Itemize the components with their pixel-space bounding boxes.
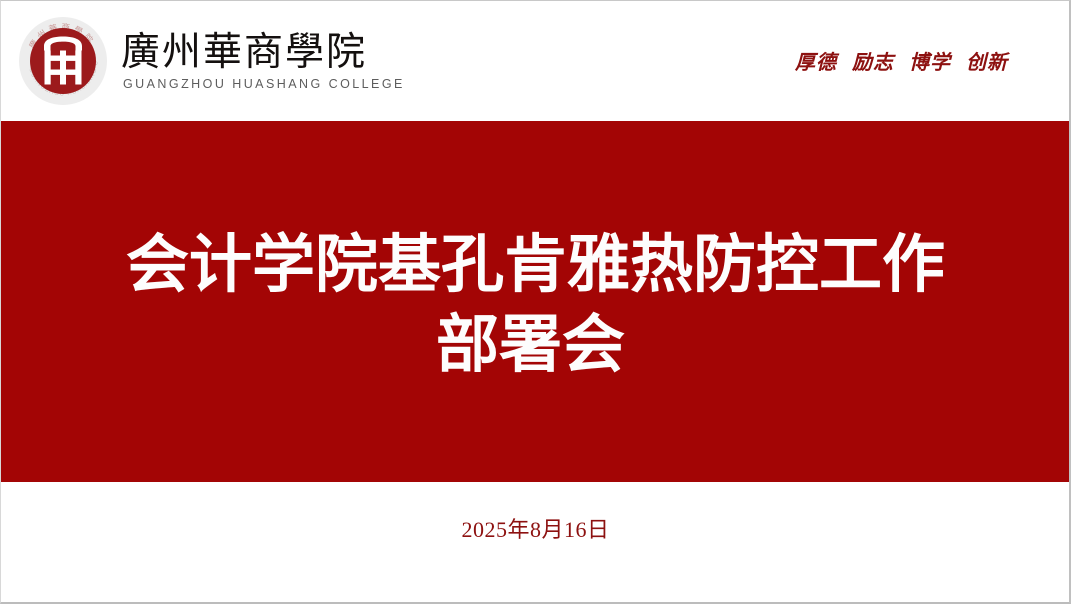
school-logo: 廣州華商學院 GUANGZHOU HUASHANG COLLEGE — [19, 17, 405, 105]
title-banner: 会计学院基孔肯雅热防控工作 部署会 — [1, 121, 1070, 482]
presentation-slide: 廣州華商學院 GUANGZHOU HUASHANG COLLEGE — [0, 0, 1071, 604]
slide-date: 2025年8月16日 — [1, 516, 1070, 544]
title-line-1: 会计学院基孔肯雅热防控工作 — [1, 225, 1070, 305]
motto-word-4: 创新 — [966, 52, 1008, 74]
school-motto: 厚德 励志 博学 创新 — [795, 50, 1008, 76]
school-name-cn: 廣州華商學院 — [121, 30, 405, 76]
seal-hua-glyph-icon — [30, 28, 96, 94]
slide-title: 会计学院基孔肯雅热防控工作 部署会 — [1, 225, 1070, 385]
motto-word-3: 博学 — [909, 52, 951, 74]
title-line-2: 部署会 — [0, 305, 1070, 385]
motto-word-1: 厚德 — [795, 52, 837, 74]
school-name-en: GUANGZHOU HUASHANG COLLEGE — [123, 77, 405, 92]
motto-word-2: 励志 — [852, 52, 894, 74]
school-name-block: 廣州華商學院 GUANGZHOU HUASHANG COLLEGE — [121, 30, 405, 92]
university-seal-icon: 廣州華商學院 GUANGZHOU HUASHANG COLLEGE — [19, 17, 107, 105]
seal-inner-disc — [30, 28, 96, 94]
slide-header: 廣州華商學院 GUANGZHOU HUASHANG COLLEGE — [1, 1, 1070, 121]
